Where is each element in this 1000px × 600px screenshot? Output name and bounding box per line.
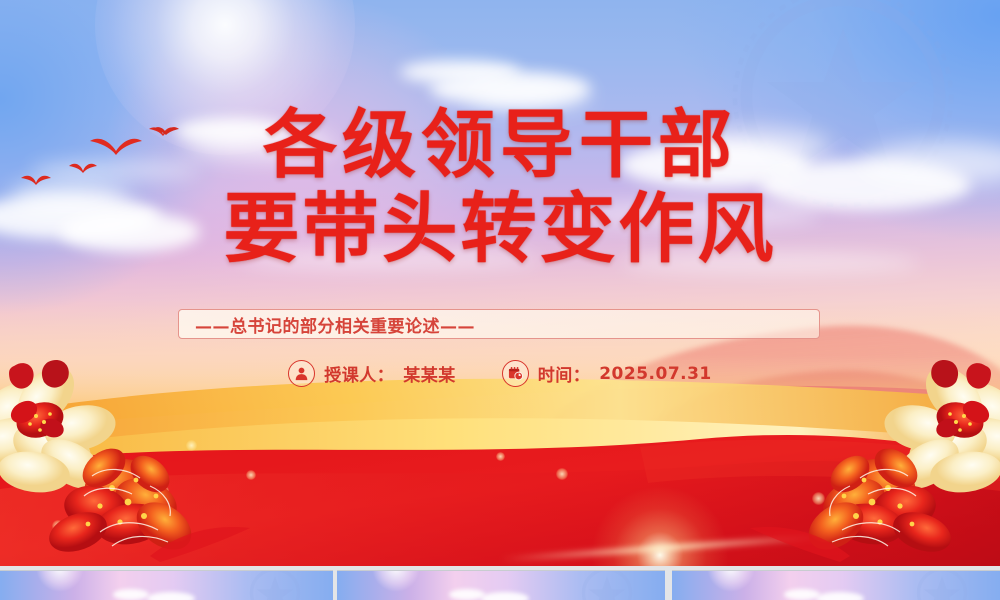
person-icon — [288, 360, 315, 387]
date-value: 2025.07.31 — [599, 364, 712, 384]
cloud — [113, 589, 149, 600]
presenter-value: 某某某 — [403, 361, 456, 386]
date-label: 时间： — [538, 361, 591, 386]
page-title: 各级领导干部 要带头转变作风 — [0, 103, 1000, 271]
title-line-1: 各级领导干部 — [0, 103, 1000, 187]
star-emblem-watermark-icon — [247, 570, 303, 600]
slide-thumbnail-strip[interactable] — [0, 566, 1000, 600]
cloud — [784, 589, 820, 600]
star-emblem-watermark-icon — [579, 570, 635, 600]
slide-thumbnail-1[interactable] — [0, 570, 333, 600]
calendar-clock-icon — [502, 360, 529, 387]
date-item: 时间： 2025.07.31 — [502, 360, 712, 387]
title-line-2: 要带头转变作风 — [0, 187, 1000, 271]
subtitle-text: ——总书记的部分相关重要论述—— — [179, 312, 475, 337]
subtitle-box: ——总书记的部分相关重要论述—— — [178, 309, 820, 339]
meta-row: 授课人： 某某某 — [0, 360, 1000, 387]
star-emblem-watermark-icon — [914, 570, 970, 600]
slide-canvas[interactable]: 各级领导干部 要带头转变作风 ——总书记的部分相关重要论述—— 授课人： 某某某 — [0, 0, 1000, 566]
cloud — [481, 592, 529, 600]
presentation-slide-view: 各级领导干部 要带头转变作风 ——总书记的部分相关重要论述—— 授课人： 某某某 — [0, 0, 1000, 600]
slide-thumbnail-3[interactable] — [672, 570, 1000, 600]
slide-thumbnail-2[interactable] — [337, 570, 665, 600]
cloud — [147, 592, 195, 600]
cloud — [816, 592, 864, 600]
presenter-item: 授课人： 某某某 — [288, 360, 456, 387]
presenter-label: 授课人： — [324, 361, 394, 386]
title-block: 各级领导干部 要带头转变作风 ——总书记的部分相关重要论述—— 授课人： 某某某 — [0, 0, 1000, 566]
cloud — [449, 589, 485, 600]
